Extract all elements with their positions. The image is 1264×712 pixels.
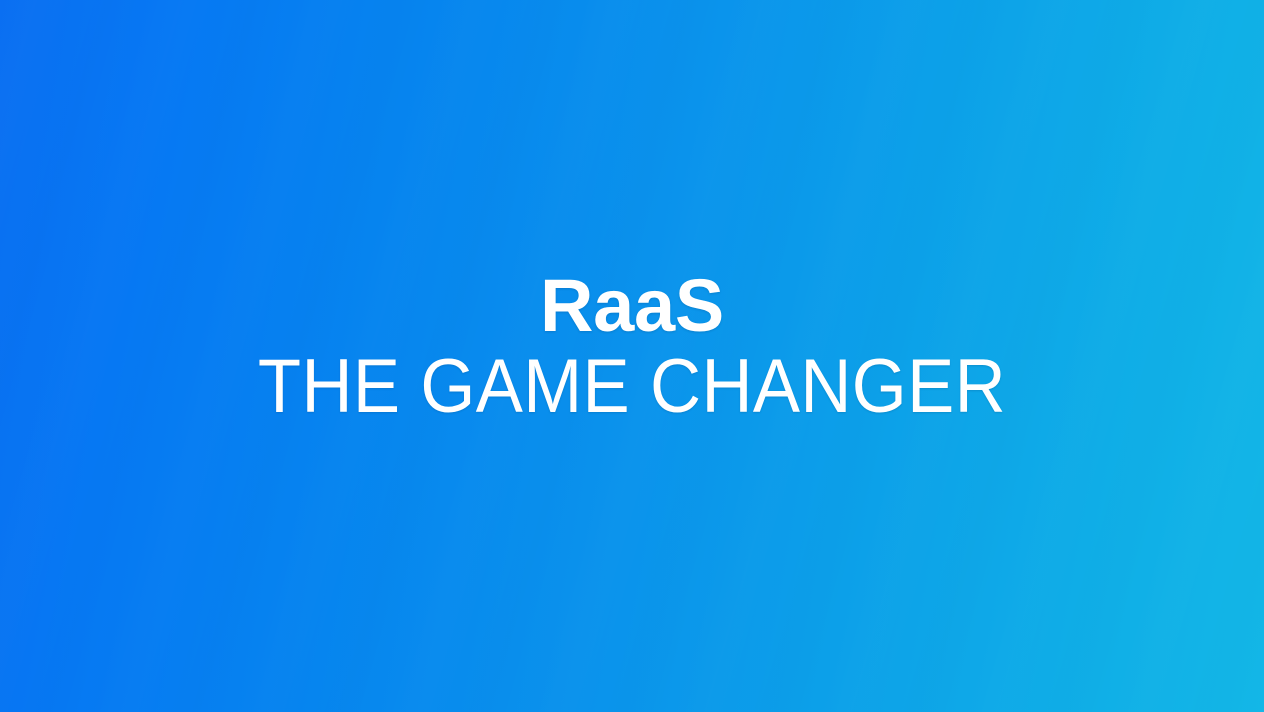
page-subtitle: THE GAME CHANGER (44, 347, 1220, 426)
title-slide: RaaS THE GAME CHANGER (0, 0, 1264, 712)
title-block: RaaS THE GAME CHANGER (0, 268, 1264, 427)
page-title: RaaS (0, 268, 1264, 343)
